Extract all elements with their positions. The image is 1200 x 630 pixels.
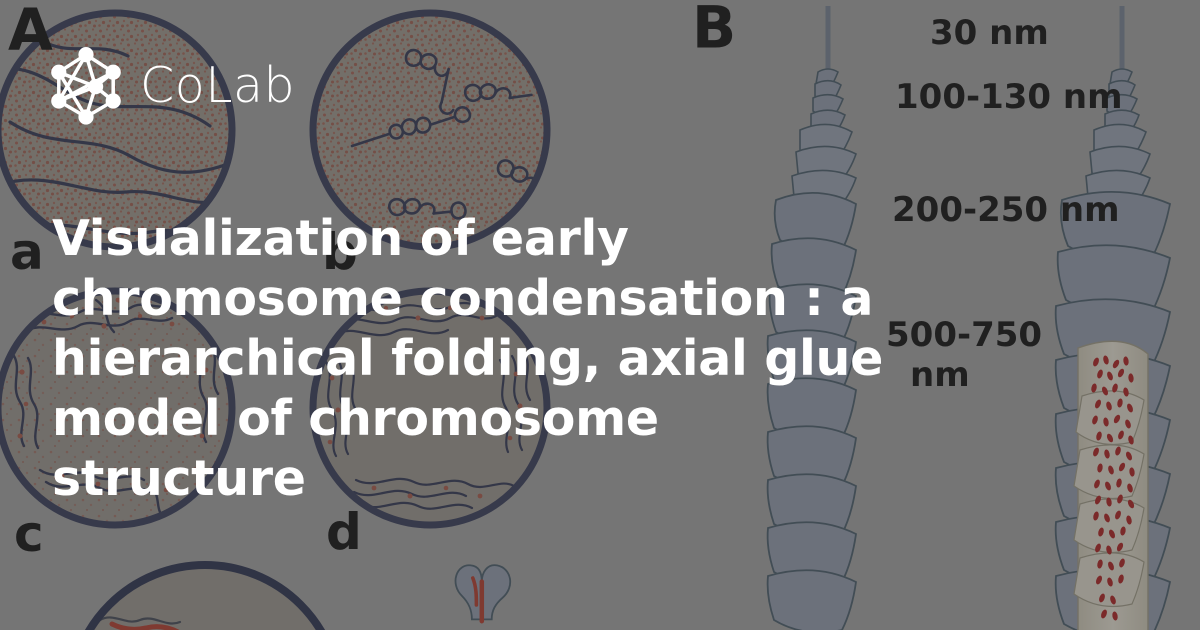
brand-lockup[interactable]: CoLab bbox=[46, 46, 295, 124]
network-graph-icon bbox=[46, 45, 126, 125]
brand-name: CoLab bbox=[140, 61, 295, 110]
social-preview-card: ABabcd30 nm100-130 nm200-250 nm500-750nm… bbox=[0, 0, 1200, 630]
page-title: Visualization of early chromosome conden… bbox=[52, 209, 912, 509]
